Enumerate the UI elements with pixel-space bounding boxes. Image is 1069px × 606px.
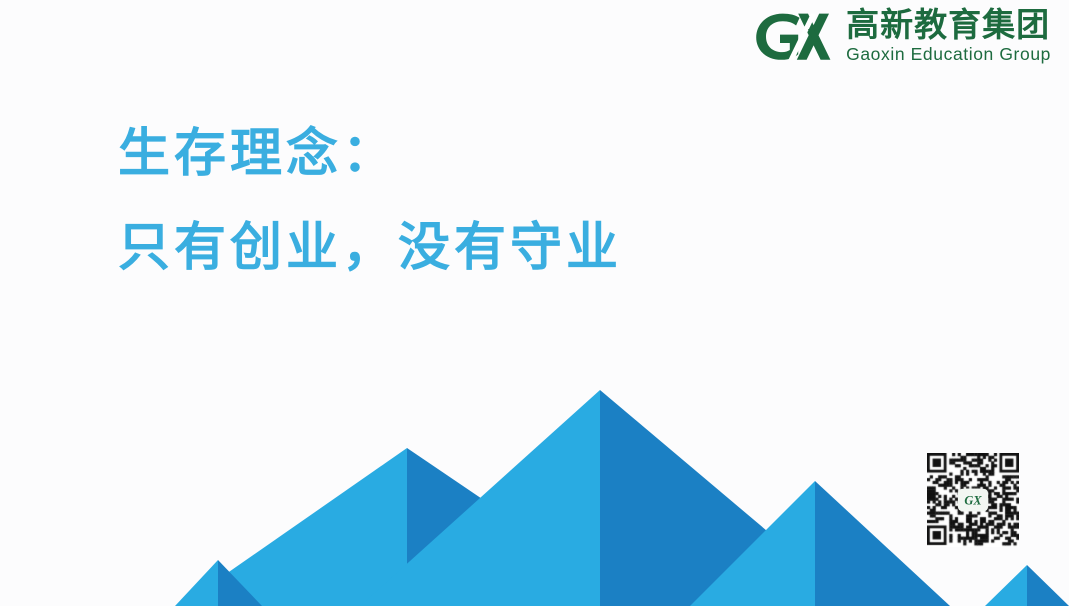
headline-line-1: 生存理念：: [118, 128, 622, 180]
far-right-peak-left-face: [985, 565, 1027, 606]
qr-center-logo: GX: [958, 489, 988, 511]
mountain-peaks-graphic: [0, 0, 1069, 606]
gx-monogram-icon-small: GX: [960, 491, 986, 509]
brand-text: 高新教育集团 Gaoxin Education Group: [846, 8, 1051, 64]
brand-name-en: Gaoxin Education Group: [846, 46, 1051, 64]
small-left-peak-left-face: [175, 560, 218, 606]
slide-canvas: 高新教育集团 Gaoxin Education Group 生存理念： 只有创业…: [0, 0, 1069, 606]
brand-name-cn: 高新教育集团: [846, 8, 1051, 41]
qr-code[interactable]: GX: [927, 453, 1019, 547]
page-title: 生存理念： 只有创业，没有守业: [118, 128, 622, 274]
brand-logo: 高新教育集团 Gaoxin Education Group: [752, 8, 1051, 64]
far-right-peak-right-face: [1027, 565, 1069, 606]
svg-text:GX: GX: [964, 494, 982, 508]
gx-monogram-icon: [752, 8, 836, 64]
headline-line-2: 只有创业，没有守业: [118, 222, 622, 274]
